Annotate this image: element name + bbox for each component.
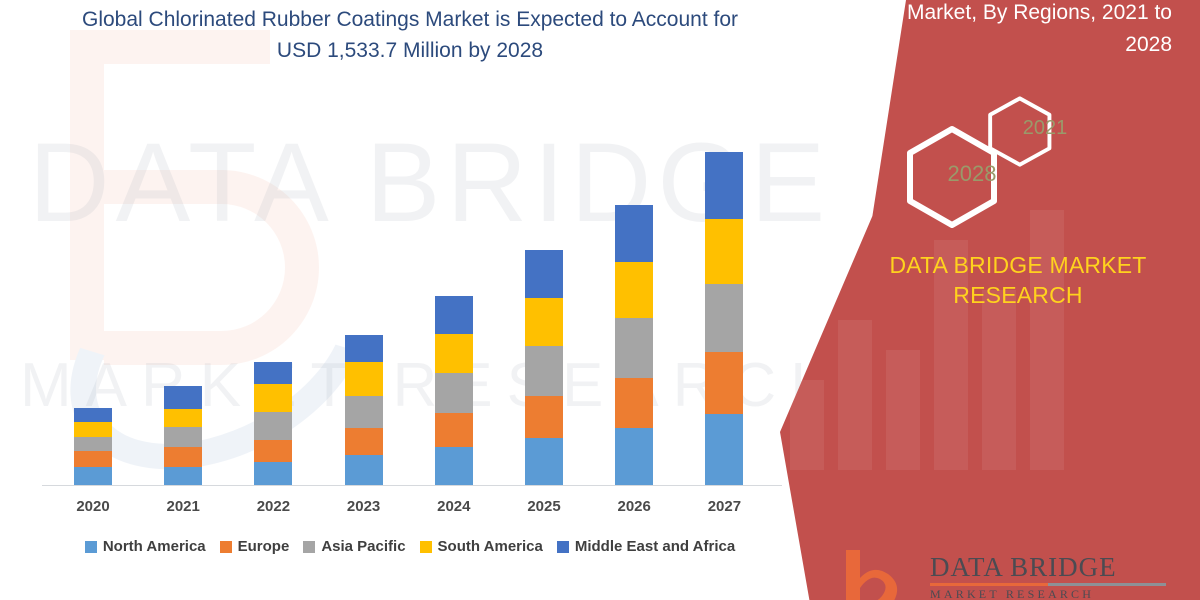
x-axis-label-2021: 2021 [151, 498, 215, 515]
bar-2022[interactable] [254, 362, 292, 485]
legend-label: North America [103, 538, 206, 555]
bar-segment-2026-south-america[interactable] [615, 262, 653, 318]
x-axis-label-2026: 2026 [602, 498, 666, 515]
databridge-logo-subtext: MARKET RESEARCH [930, 587, 1094, 600]
bar-segment-2026-middle-east-and-africa[interactable] [615, 205, 653, 262]
panel-ghost-bar [886, 350, 920, 470]
bar-segment-2020-south-america[interactable] [74, 422, 112, 437]
databridge-logo-mark-icon [840, 548, 918, 600]
legend-swatch-icon [303, 541, 315, 553]
legend-label: Middle East and Africa [575, 538, 735, 555]
right-panel: Coatings Market, By Regions, 2021 to 202… [780, 0, 1200, 600]
bar-segment-2022-europe[interactable] [254, 440, 292, 462]
bar-segment-2027-south-america[interactable] [705, 219, 743, 284]
bar-segment-2023-south-america[interactable] [345, 362, 383, 396]
bar-2025[interactable] [525, 250, 563, 485]
x-axis-label-2025: 2025 [512, 498, 576, 515]
databridge-logo-text: DATA BRIDGE [930, 552, 1117, 583]
bar-segment-2021-middle-east-and-africa[interactable] [164, 386, 202, 409]
bar-segment-2025-south-america[interactable] [525, 298, 563, 346]
bar-2021[interactable] [164, 386, 202, 485]
bar-segment-2020-asia-pacific[interactable] [74, 437, 112, 451]
brand-name: DATA BRIDGE MARKET RESEARCH [868, 250, 1168, 310]
bar-segment-2027-europe[interactable] [705, 352, 743, 414]
legend-swatch-icon [420, 541, 432, 553]
panel-ghost-bar [1030, 210, 1064, 470]
legend-item-middle-east-and-africa[interactable]: Middle East and Africa [557, 538, 735, 555]
legend-swatch-icon [220, 541, 232, 553]
brand-line-1: DATA BRIDGE MARKET [868, 250, 1168, 280]
databridge-logo: DATA BRIDGE MARKET RESEARCH [830, 542, 1190, 600]
hexagon-badges: 2028 2021 [890, 95, 1110, 245]
x-axis-label-2027: 2027 [692, 498, 756, 515]
bar-segment-2020-middle-east-and-africa[interactable] [74, 408, 112, 422]
legend-label: Asia Pacific [321, 538, 405, 555]
hexagon-label-small: 2021 [1010, 117, 1080, 140]
bar-2027[interactable] [705, 152, 743, 485]
panel-title: Coatings Market, By Regions, 2021 to 202… [802, 0, 1172, 61]
bar-segment-2024-europe[interactable] [435, 413, 473, 447]
bar-segment-2022-asia-pacific[interactable] [254, 412, 292, 440]
brand-line-2: RESEARCH [868, 280, 1168, 310]
bar-segment-2021-north-america[interactable] [164, 467, 202, 485]
bar-segment-2025-europe[interactable] [525, 396, 563, 438]
bar-segment-2020-europe[interactable] [74, 451, 112, 467]
bar-segment-2020-north-america[interactable] [74, 467, 112, 485]
bar-segment-2026-europe[interactable] [615, 378, 653, 428]
bar-segment-2025-asia-pacific[interactable] [525, 346, 563, 396]
hexagon-label-large: 2028 [932, 161, 1012, 187]
chart-legend: North AmericaEuropeAsia PacificSouth Ame… [0, 538, 820, 555]
bar-segment-2027-north-america[interactable] [705, 414, 743, 485]
bar-segment-2025-middle-east-and-africa[interactable] [525, 250, 563, 298]
bar-2024[interactable] [435, 296, 473, 485]
infographic-root: DATA BRIDGE MARKET RESEARCH Global Chlor… [0, 0, 1200, 600]
bar-segment-2024-asia-pacific[interactable] [435, 373, 473, 413]
bar-segment-2024-middle-east-and-africa[interactable] [435, 296, 473, 334]
bar-segment-2023-north-america[interactable] [345, 455, 383, 485]
bar-segment-2021-europe[interactable] [164, 447, 202, 467]
legend-item-asia-pacific[interactable]: Asia Pacific [303, 538, 405, 555]
legend-swatch-icon [85, 541, 97, 553]
legend-item-south-america[interactable]: South America [420, 538, 543, 555]
panel-ghost-bar [838, 320, 872, 470]
bar-segment-2022-south-america[interactable] [254, 384, 292, 412]
bar-segment-2023-middle-east-and-africa[interactable] [345, 335, 383, 362]
bar-segment-2024-south-america[interactable] [435, 334, 473, 373]
bar-segment-2026-asia-pacific[interactable] [615, 318, 653, 378]
bar-2023[interactable] [345, 335, 383, 485]
legend-label: South America [438, 538, 543, 555]
legend-label: Europe [238, 538, 290, 555]
databridge-logo-rule [930, 583, 1166, 586]
bar-segment-2024-north-america[interactable] [435, 447, 473, 485]
bar-segment-2023-asia-pacific[interactable] [345, 396, 383, 428]
bar-2020[interactable] [74, 408, 112, 485]
bar-segment-2021-asia-pacific[interactable] [164, 427, 202, 447]
x-axis-label-2024: 2024 [422, 498, 486, 515]
bar-segment-2023-europe[interactable] [345, 428, 383, 455]
legend-item-north-america[interactable]: North America [85, 538, 206, 555]
x-axis-label-2022: 2022 [241, 498, 305, 515]
legend-swatch-icon [557, 541, 569, 553]
panel-ghost-bar [982, 290, 1016, 470]
bar-segment-2026-north-america[interactable] [615, 428, 653, 485]
bar-segment-2027-asia-pacific[interactable] [705, 284, 743, 352]
bar-segment-2022-middle-east-and-africa[interactable] [254, 362, 292, 384]
x-axis-labels: 20202021202220232024202520262027 [0, 498, 820, 522]
bar-2026[interactable] [615, 205, 653, 485]
x-axis-label-2023: 2023 [332, 498, 396, 515]
legend-item-europe[interactable]: Europe [220, 538, 290, 555]
bar-segment-2021-south-america[interactable] [164, 409, 202, 427]
bar-segment-2025-north-america[interactable] [525, 438, 563, 485]
bar-segment-2022-north-america[interactable] [254, 462, 292, 485]
x-axis-label-2020: 2020 [61, 498, 125, 515]
x-axis-line [42, 485, 782, 486]
stacked-bar-chart: 20202021202220232024202520262027 North A… [0, 0, 820, 600]
bar-segment-2027-middle-east-and-africa[interactable] [705, 152, 743, 219]
